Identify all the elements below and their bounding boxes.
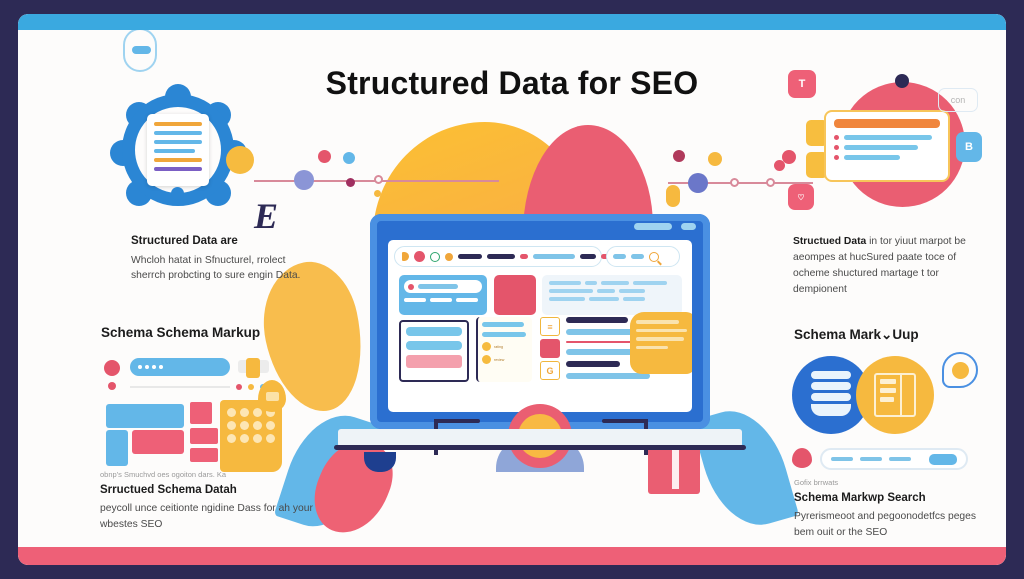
sidebar-panel — [399, 320, 469, 382]
infographic-frame: Structured Data for SEO E — [18, 14, 1006, 565]
rail-ring — [374, 175, 383, 184]
text-block-structured-data: Structured Data are Whcloh hatat in Sfnu… — [131, 234, 311, 284]
body-text: Pyrerismeoot and pegoonodetfcs peges bem… — [794, 509, 984, 541]
block-badge-icon: B — [956, 132, 982, 162]
schema-card-icon: T B con ♡ — [788, 74, 988, 214]
heading: Schema Mark⌄Uup — [794, 326, 984, 344]
text-block-schema-markup-left: Schema Schema Markup — [101, 324, 316, 345]
text-block-schema-markup-right: Schema Mark⌄Uup — [794, 326, 984, 347]
desk-lamp-right — [602, 419, 648, 423]
heading: Schema Markwp Search — [794, 491, 984, 507]
rail-ring — [766, 178, 775, 187]
heading: Schema Schema Markup — [101, 324, 316, 342]
snippet-panel — [542, 275, 682, 315]
rail-node — [346, 178, 355, 187]
caption: obnp's Smuchvd oes ogoiton dars. Ka — [100, 470, 315, 481]
text-block-structured-data-right: Structued Data in tor yiuut marpot be ae… — [793, 234, 983, 298]
browser-toolbar — [394, 245, 686, 268]
result-list-card: rating review — [476, 317, 532, 382]
navy-dot-decor — [895, 74, 909, 88]
rail-node — [374, 190, 381, 197]
laptop-illustration: rating review ≡ G — [370, 214, 710, 464]
con-badge-icon: con — [938, 88, 978, 112]
decor-letter-e: E — [254, 195, 278, 237]
schema-stack: ≡ G — [540, 317, 560, 383]
rail-node — [666, 185, 680, 207]
search-bar-mock[interactable] — [820, 448, 968, 470]
address-bar[interactable] — [394, 246, 602, 267]
search-bubble-icon — [942, 352, 978, 388]
top-accent-bar — [18, 14, 1006, 30]
heading: Srructued Schema Datah — [100, 483, 315, 499]
tag-balloon-icon — [258, 380, 286, 412]
toolbar-dot — [414, 251, 425, 262]
result-card — [824, 110, 950, 182]
browser-window: rating review ≡ G — [388, 240, 692, 412]
toolbar-dot — [445, 253, 453, 261]
browser-content: rating review ≡ G — [394, 272, 686, 408]
rail-ring — [730, 178, 739, 187]
rail-node — [688, 173, 708, 193]
desk-edge — [334, 445, 746, 450]
featured-card — [399, 275, 487, 315]
heading: Structured Data are — [131, 234, 311, 250]
rail-node — [294, 170, 314, 190]
text-block-structured-schema: obnp's Smuchvd oes ogoiton dars. Ka Srru… — [100, 470, 315, 533]
image-placeholder-card — [494, 275, 536, 315]
rail-node — [318, 150, 331, 163]
browser-search-box[interactable] — [606, 246, 680, 267]
text-block-schema-markup-search: Gofix brrwats Schema Markwp Search Pyrer… — [794, 478, 984, 541]
rail-node — [708, 152, 722, 166]
body-text: Whcloh hatat in Sfnucturel, rrolect sher… — [131, 253, 311, 285]
rail-node — [673, 150, 685, 162]
infographic-canvas: Structured Data for SEO E — [18, 30, 1006, 547]
rail-node — [343, 152, 355, 164]
caption: Gofix brrwats — [794, 478, 984, 489]
toolbar-dot — [402, 252, 409, 261]
desk-lamp-left — [434, 419, 480, 423]
dashboard-illustration — [98, 352, 293, 472]
tag-badge-icon: T — [788, 70, 816, 98]
pill-badge-icon — [123, 30, 157, 72]
magnifier-icon[interactable] — [649, 252, 659, 262]
stack-item: ≡ — [540, 317, 560, 336]
dot-decor — [774, 160, 785, 171]
heart-badge-icon: ♡ — [788, 184, 814, 210]
pin-dot — [171, 187, 184, 200]
body-text: peycoll unce ceitionte ngidine Dass for … — [100, 501, 315, 533]
book-icon — [648, 444, 700, 494]
document-card — [147, 114, 209, 186]
bottom-accent-bar — [18, 547, 1006, 565]
heart-icon — [792, 448, 812, 468]
lead-text: Structued Data — [793, 236, 866, 247]
gear-document-icon — [114, 88, 244, 213]
tooltip-callout — [630, 312, 692, 374]
layout-grid-icon — [856, 356, 934, 434]
bottom-right-icon-group — [790, 348, 990, 478]
laptop-lid: rating review ≡ G — [370, 214, 710, 429]
toolbar-dot — [430, 252, 440, 262]
coin-icon — [226, 146, 254, 174]
